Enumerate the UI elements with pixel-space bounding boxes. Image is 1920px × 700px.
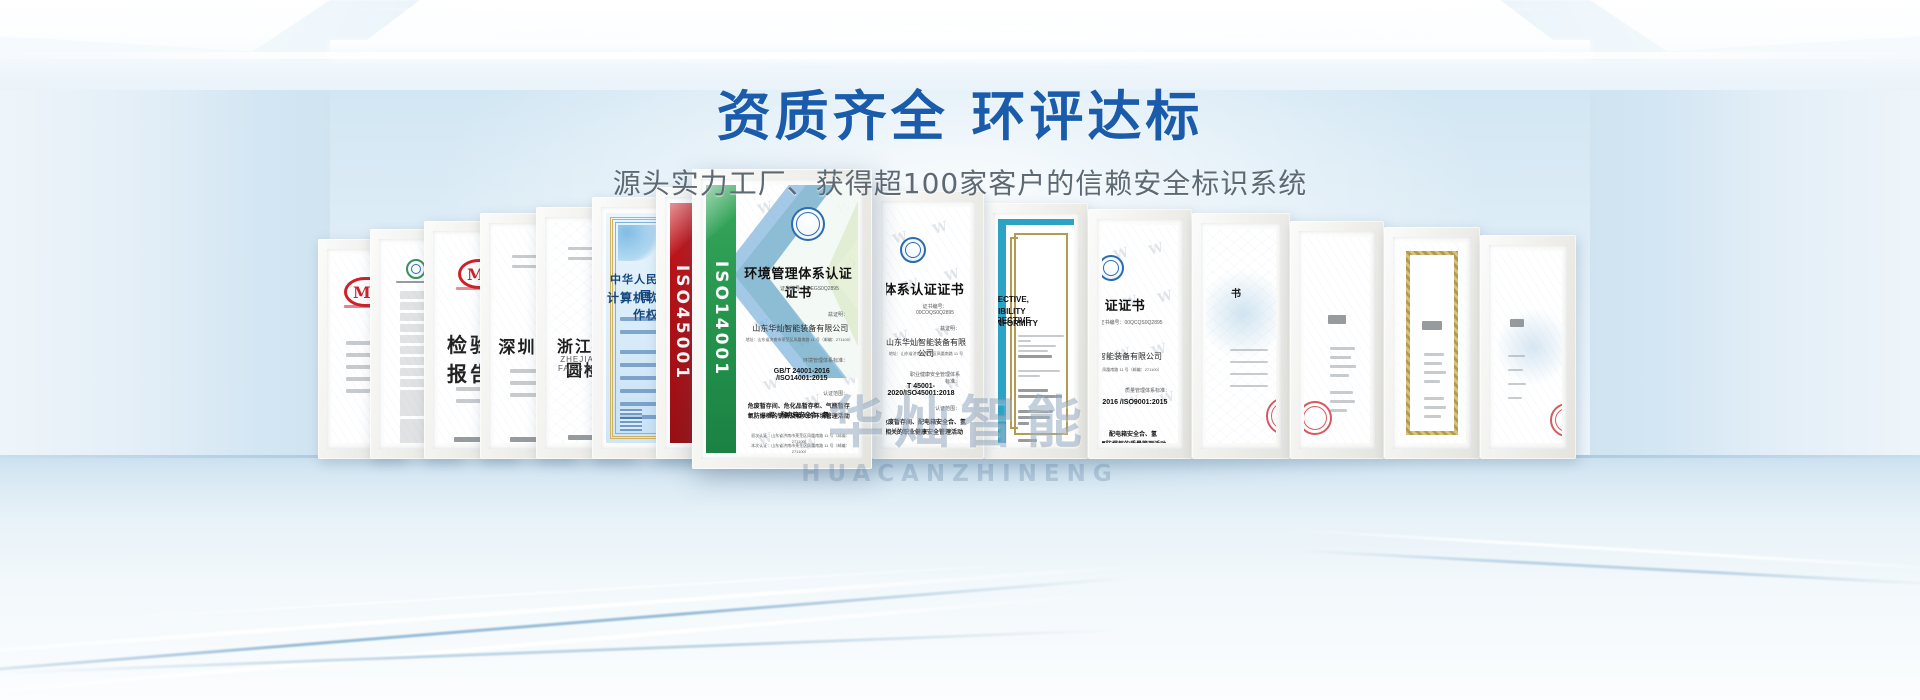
- certificate-frame-iso14001-featured[interactable]: WWW WWW WWW WWW WW: [692, 169, 872, 469]
- cert-note-2: 本次认证：山东省济南市莱芜区凤凰南路 11 号（邮编：271100）: [749, 443, 852, 453]
- iso45001-label: ISO45001: [672, 265, 692, 381]
- cert-scope-line1: 危废暂存间、配电箱安全合、氢: [886, 417, 966, 426]
- cert-title: 环境管理体系认证证书: [742, 263, 854, 301]
- cert-standard-label: 环境管理体系标准：: [785, 357, 848, 364]
- cert-title: 书: [1206, 285, 1270, 300]
- cert-number: 证书编号：00COQS0Q2895: [906, 303, 964, 316]
- hero-text-block: 资质齐全 环评达标 源头实力工厂、获得超100家客户的信赖安全标识系统: [0, 88, 1920, 202]
- ce-gold-frame-inner: [1010, 237, 1018, 429]
- ce-title-1: RECTIVE,: [998, 295, 1068, 304]
- cert-standard: 19001-2016 /ISO9001:2015: [1102, 399, 1174, 406]
- inspection-emblem-icon: [406, 259, 426, 279]
- page-title: 资质齐全 环评达标: [0, 88, 1920, 146]
- cert-scope-line2: 氧防爆柜的质量管理活动: [1102, 439, 1174, 443]
- certificate-frame-gold-border[interactable]: [1384, 227, 1480, 459]
- cert-company-label: 兹证明：: [906, 325, 960, 332]
- certificate-frame-patent[interactable]: 书: [1192, 213, 1290, 459]
- cert-title: 理体系认证证书: [886, 279, 966, 298]
- page-subtitle: 源头实力工厂、获得超100家客户的信赖安全标识系统: [0, 162, 1920, 202]
- cert-number: 证书编号：00EGS0Q2895: [767, 285, 852, 292]
- copyright-qr: [620, 409, 642, 431]
- cert-company-label: 兹证明：: [785, 311, 848, 318]
- certificate-frame-iso9001[interactable]: WW WW WW WW 证证书 证书编号：00QCQS0Q2895 智能装备有限…: [1088, 209, 1192, 459]
- certificate-frame-business-license[interactable]: [1480, 235, 1576, 459]
- hero-banner: 资质齐全 环评达标 源头实力工厂、获得超100家客户的信赖安全标识系统 MA: [0, 0, 1920, 700]
- certificate-frame-ce-declaration[interactable]: RECTIVE, ATIBILITY DIRECTIVE ONFORMITY: [984, 203, 1088, 459]
- patent-watermark: [1206, 269, 1276, 359]
- ce-title-3: ONFORMITY: [998, 319, 1068, 328]
- cert-company: 山东华灿智能装备有限公司: [749, 323, 852, 334]
- certificate-frame-honor[interactable]: [1290, 221, 1384, 459]
- cert-address: 地址：山东省济南市莱芜区凤凰南路 11 号（邮编：271100）: [746, 337, 852, 343]
- certificate-frame-iso45001-b[interactable]: WW WW WW WW W 理体系认证证书 证书编号：00COQS0Q2895 …: [872, 191, 984, 459]
- cert-company: 智能装备有限公司: [1102, 351, 1174, 362]
- cert-scope-label: 认证范围：: [791, 390, 848, 397]
- iso14001-sidebar: ISO14001: [706, 185, 736, 453]
- gold-body: [1424, 353, 1452, 418]
- cert-address: 地址：山东省济南市莱芜区凤凰南路 11 号: [886, 351, 966, 357]
- cert-standard-label: 质量管理体系标准：: [1102, 387, 1170, 394]
- cert-title: 证证书: [1102, 295, 1174, 314]
- cert-scope-line1: 配电箱安全合、氢: [1102, 429, 1174, 438]
- license-body: [1508, 355, 1550, 399]
- certification-body-emblem-icon: [900, 237, 926, 263]
- patent-fields: [1230, 349, 1268, 397]
- cert-title-line: [1510, 319, 1524, 327]
- cert-number: 证书编号：00QCQS0Q2895: [1102, 319, 1172, 326]
- cert-scope-label: 认证范围：: [906, 405, 960, 412]
- cert-title-line: [1328, 315, 1346, 324]
- cert-scope-line2: 氧防爆柜的销售及相关的环境管理活动: [746, 411, 852, 420]
- cert-address: 区凤凰南路 11 号（邮编：271100）: [1102, 367, 1174, 373]
- ce-body: [1018, 335, 1066, 443]
- cert-standard: T 45001-2020/ISO45001:2018: [886, 383, 966, 397]
- cert-standard: GB/T 24001-2016 /ISO14001:2015: [752, 368, 852, 382]
- iso14001-label: ISO14001: [711, 261, 731, 377]
- honor-body: [1330, 347, 1360, 412]
- certification-body-emblem-icon: [791, 207, 825, 241]
- cert-title-line: [1422, 321, 1442, 330]
- cert-scope-line2: 相关的职业健康安全管理活动: [886, 427, 966, 436]
